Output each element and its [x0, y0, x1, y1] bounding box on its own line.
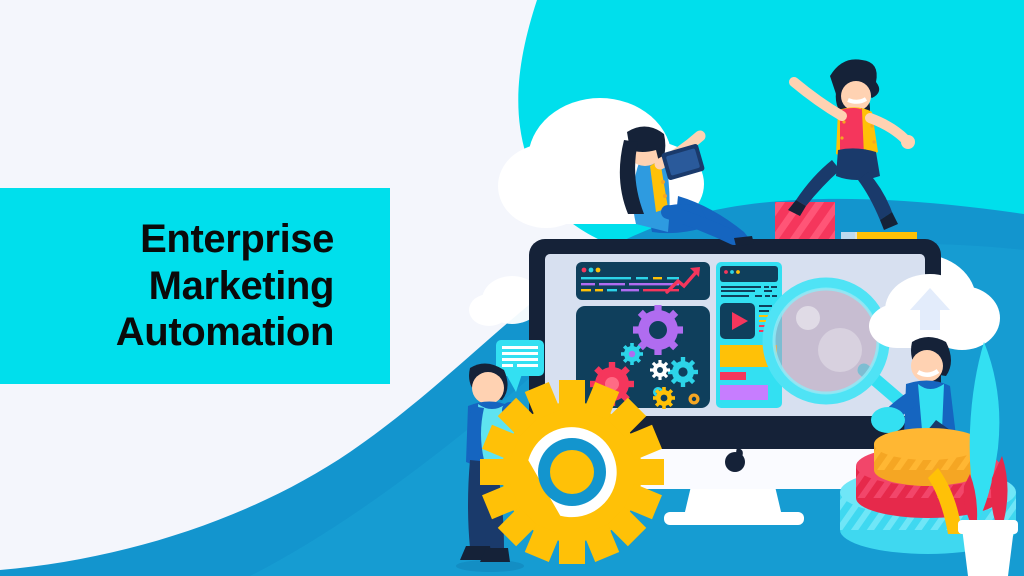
- dashboard-panel[interactable]: [576, 262, 710, 300]
- headline-line-1: Enterprise: [140, 216, 334, 262]
- headline-line-2: Marketing: [149, 263, 334, 309]
- gear-cyan-small: [621, 343, 643, 365]
- big-gear[interactable]: [480, 380, 664, 564]
- gear-cyan: [668, 357, 698, 387]
- gear-white: [650, 360, 670, 380]
- headline-line-3: Automation: [116, 309, 334, 355]
- banner-root: Enterprise Marketing Automation: [0, 0, 1024, 576]
- gear-yellow: [653, 387, 675, 409]
- gear-orange-tiny: [689, 394, 700, 405]
- headline-panel: Enterprise Marketing Automation: [0, 188, 390, 384]
